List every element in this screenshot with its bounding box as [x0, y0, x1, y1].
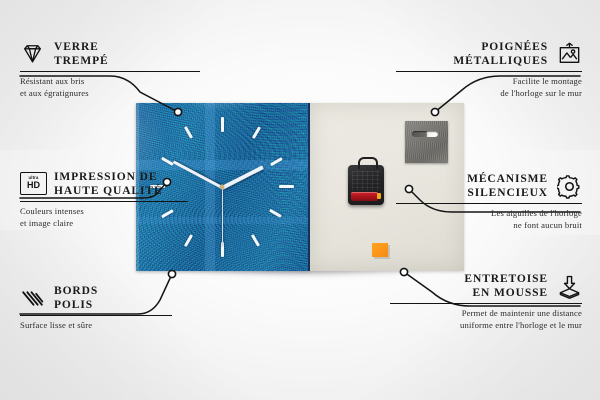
feature-title: BORDS POLIS — [54, 284, 98, 312]
feature-description-line2: uniforme entre l'horloge et le mur — [390, 320, 582, 332]
diamond-icon — [20, 42, 45, 67]
clock-center-cap — [220, 185, 225, 190]
feature-title: MÉCANISME SILENCIEUX — [467, 172, 548, 200]
feature-header: BORDS POLIS — [20, 284, 200, 312]
hanger-slot — [412, 131, 438, 137]
feature-description-line2: et aux égratignures — [20, 88, 200, 100]
ultra-hd-icon-large-text: HD — [27, 181, 40, 190]
battery — [351, 192, 378, 201]
gear-icon — [557, 174, 582, 199]
feature-header: VERRE TREMPÉ — [20, 40, 200, 68]
mechanism-hanging-loop — [358, 157, 378, 169]
feature-header: MÉCANISME SILENCIEUX — [396, 172, 582, 200]
feature-title: POIGNÉES MÉTALLIQUES — [453, 40, 548, 68]
feature-divider — [20, 201, 188, 202]
clock-tick — [279, 185, 294, 188]
feature-divider — [20, 315, 172, 316]
feature-title-line2: EN MOUSSE — [464, 286, 548, 300]
feature-description-line1: Résistant aux bris — [20, 76, 200, 88]
clock-mechanism — [348, 165, 384, 205]
feature-title: IMPRESSION DE HAUTE QUALITÉ — [54, 170, 163, 198]
feature-title-line2: MÉTALLIQUES — [453, 54, 548, 68]
feature-description-line1: Couleurs intenses — [20, 206, 210, 218]
feature-description-line1: Les aiguilles de l'horloge — [396, 208, 582, 220]
feature-callout-entretoise: ENTRETOISE EN MOUSSE Permet de maintenir… — [390, 272, 582, 332]
feature-title: VERRE TREMPÉ — [54, 40, 109, 68]
feature-title-line1: BORDS — [54, 284, 98, 298]
clock-tick — [221, 117, 224, 132]
feature-header: POIGNÉES MÉTALLIQUES — [396, 40, 582, 68]
metal-hanger-plate — [405, 121, 448, 163]
ultra-hd-icon: ultra HD — [20, 172, 45, 197]
foam-spacer-icon — [557, 274, 582, 299]
feature-divider — [396, 203, 582, 204]
feature-title-line2: TREMPÉ — [54, 54, 109, 68]
mechanism-texture — [352, 171, 380, 191]
feature-header: ENTRETOISE EN MOUSSE — [390, 272, 582, 300]
feature-divider — [20, 71, 200, 72]
feature-description-line2: de l'horloge sur le mur — [396, 88, 582, 100]
feature-callout-mecanisme: MÉCANISME SILENCIEUX Les aiguilles de l'… — [396, 172, 582, 232]
foam-spacer — [372, 243, 388, 257]
picture-hanger-icon — [557, 42, 582, 67]
feature-description-line1: Permet de maintenir une distance — [390, 308, 582, 320]
feature-title: ENTRETOISE EN MOUSSE — [464, 272, 548, 300]
infographic-canvas: VERRE TREMPÉ Résistant aux bris et aux é… — [0, 0, 600, 400]
feature-callout-bords-polis: BORDS POLIS Surface lisse et sûre — [20, 284, 200, 332]
feature-callout-impression: ultra HD IMPRESSION DE HAUTE QUALITÉ Cou… — [20, 170, 210, 230]
feature-divider — [396, 71, 582, 72]
feature-title-line1: POIGNÉES — [453, 40, 548, 54]
feature-description-line1: Facilite le montage — [396, 76, 582, 88]
feature-title-line2: SILENCIEUX — [467, 186, 548, 200]
feature-header: ultra HD IMPRESSION DE HAUTE QUALITÉ — [20, 170, 210, 198]
feature-callout-verre-trempe: VERRE TREMPÉ Résistant aux bris et aux é… — [20, 40, 200, 100]
feature-title-line2: HAUTE QUALITÉ — [54, 184, 163, 198]
feature-title-line1: MÉCANISME — [467, 172, 548, 186]
feature-title-line2: POLIS — [54, 298, 98, 312]
feature-divider — [390, 303, 582, 304]
polished-edges-icon — [20, 286, 45, 311]
feature-title-line1: VERRE — [54, 40, 109, 54]
feature-description-line2: ne font aucun bruit — [396, 220, 582, 232]
feature-title-line1: IMPRESSION DE — [54, 170, 163, 184]
feature-callout-poignees: POIGNÉES MÉTALLIQUES Facilite le montage… — [396, 40, 582, 100]
feature-title-line1: ENTRETOISE — [464, 272, 548, 286]
feature-description-line2: et image claire — [20, 218, 210, 230]
feature-description-line1: Surface lisse et sûre — [20, 320, 200, 332]
